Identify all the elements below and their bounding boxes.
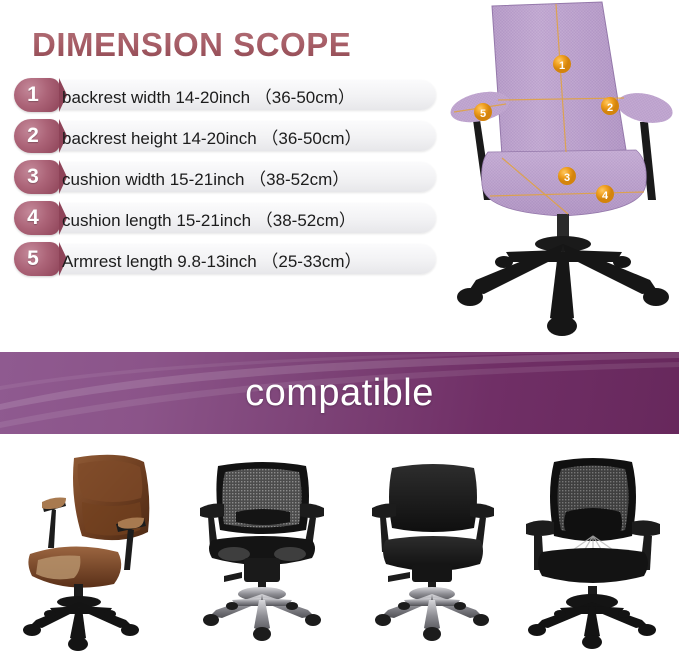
page-title: DIMENSION SCOPE <box>32 26 351 64</box>
spec-number-label: 4 <box>14 201 52 235</box>
svg-text:1: 1 <box>559 60 565 72</box>
list-item: 3 cushion width 15-21inch （38-52cm） <box>14 160 440 194</box>
chair-gas-cylinder <box>535 214 591 252</box>
compatible-chairs-row <box>0 436 679 655</box>
main-chair-image: 1 2 3 4 5 <box>440 0 679 352</box>
compatible-chair-black-mesh-ergonomic <box>178 436 348 655</box>
spec-text-label: backrest height 14-20inch （36-50cm） <box>62 119 362 153</box>
compatible-banner: compatible <box>0 352 679 434</box>
spec-number-label: 1 <box>14 78 52 112</box>
dimension-scope-section: DIMENSION SCOPE 1 backrest width 14-20in… <box>0 0 679 352</box>
spec-number-label: 3 <box>14 160 52 194</box>
spec-text-label: Armrest length 9.8-13inch （25-33cm） <box>62 242 362 276</box>
svg-text:4: 4 <box>602 190 609 202</box>
list-item: 5 Armrest length 9.8-13inch （25-33cm） <box>14 242 440 276</box>
dimension-spec-list: 1 backrest width 14-20inch （36-50cm） 2 b… <box>14 78 440 283</box>
compatible-chair-black-fabric-task <box>348 436 518 655</box>
chair-armrest-right <box>615 88 676 127</box>
svg-text:5: 5 <box>480 108 486 120</box>
banner-title: compatible <box>0 352 679 434</box>
chair-backrest <box>492 2 626 156</box>
svg-text:3: 3 <box>564 172 570 184</box>
dimension-marker-2: 2 <box>601 97 619 115</box>
compatible-chair-black-mesh-lumbar <box>508 436 678 655</box>
spec-number-label: 5 <box>14 242 52 276</box>
list-item: 2 backrest height 14-20inch （36-50cm） <box>14 119 440 153</box>
product-infographic: DIMENSION SCOPE 1 backrest width 14-20in… <box>0 0 679 655</box>
dimension-marker-3: 3 <box>558 167 576 185</box>
dimension-marker-5: 5 <box>474 103 492 121</box>
dimension-marker-1: 1 <box>553 55 571 73</box>
spec-text-label: cushion length 15-21inch （38-52cm） <box>62 201 356 235</box>
spec-text-label: backrest width 14-20inch （36-50cm） <box>62 78 355 112</box>
chair-base <box>468 244 658 322</box>
spec-text-label: cushion width 15-21inch （38-52cm） <box>62 160 349 194</box>
list-item: 4 cushion length 15-21inch （38-52cm） <box>14 201 440 235</box>
list-item: 1 backrest width 14-20inch （36-50cm） <box>14 78 440 112</box>
spec-number-label: 2 <box>14 119 52 153</box>
svg-text:2: 2 <box>607 102 613 114</box>
compatible-chair-brown-leather <box>8 436 178 655</box>
dimension-marker-4: 4 <box>596 185 614 203</box>
